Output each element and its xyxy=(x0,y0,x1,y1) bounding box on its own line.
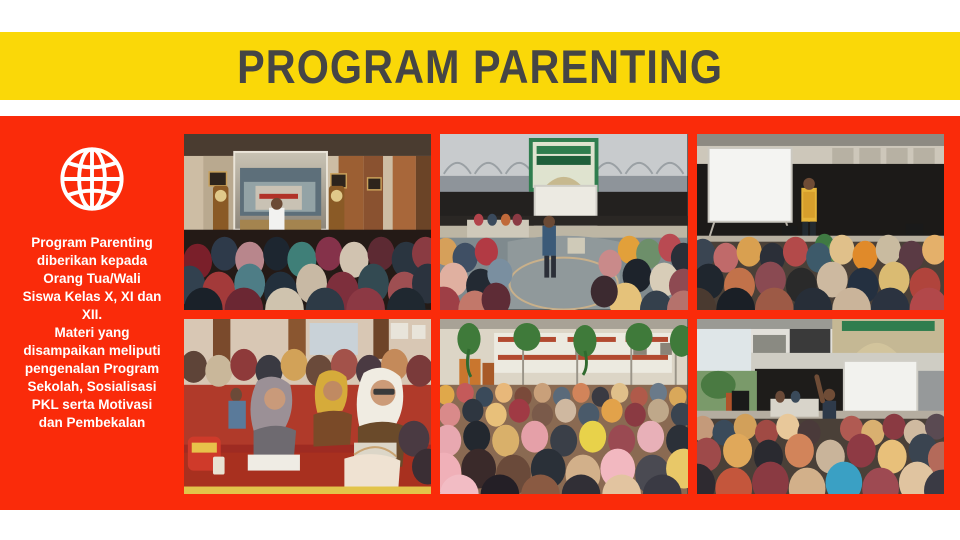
sidebar-line-5: XII. xyxy=(82,307,102,322)
slide-root: PROGRAM PARENTING Program Pare xyxy=(0,0,960,540)
photo-parents-floor-forms[interactable] xyxy=(184,319,431,495)
sidebar-line-1: Program Parenting xyxy=(31,235,153,250)
sidebar-line-2: diberikan kepada xyxy=(37,253,147,268)
sidebar-line-9: Sekolah, Sosialisasi xyxy=(27,379,156,394)
sidebar-line-10: PKL serta Motivasi xyxy=(32,397,153,412)
sidebar-line-8: pengenalan Program xyxy=(25,361,159,376)
photo-grid xyxy=(184,134,944,494)
title-band: PROGRAM PARENTING xyxy=(0,32,960,100)
photo-mosque-speaker[interactable] xyxy=(440,134,687,310)
globe-icon xyxy=(0,140,184,218)
sidebar: Program Parenting diberikan kepada Orang… xyxy=(0,116,184,510)
photo-audience-raised-hand[interactable] xyxy=(697,319,944,495)
photo-hall-projector[interactable] xyxy=(184,134,431,310)
page-title: PROGRAM PARENTING xyxy=(237,43,723,90)
photo-speaker-yellow-batik[interactable] xyxy=(697,134,944,310)
sidebar-line-6: Materi yang xyxy=(54,325,129,340)
content-panel: Program Parenting diberikan kepada Orang… xyxy=(0,116,960,510)
sidebar-line-7: disampaikan meliputi xyxy=(23,343,160,358)
sidebar-body-text: Program Parenting diberikan kepada Orang… xyxy=(6,234,178,431)
sidebar-line-11: dan Pembekalan xyxy=(39,415,146,430)
sidebar-line-3: Orang Tua/Wali xyxy=(43,271,141,286)
photo-large-crowd-courtyard[interactable] xyxy=(440,319,687,495)
sidebar-line-4: Siswa Kelas X, XI dan xyxy=(23,289,162,304)
